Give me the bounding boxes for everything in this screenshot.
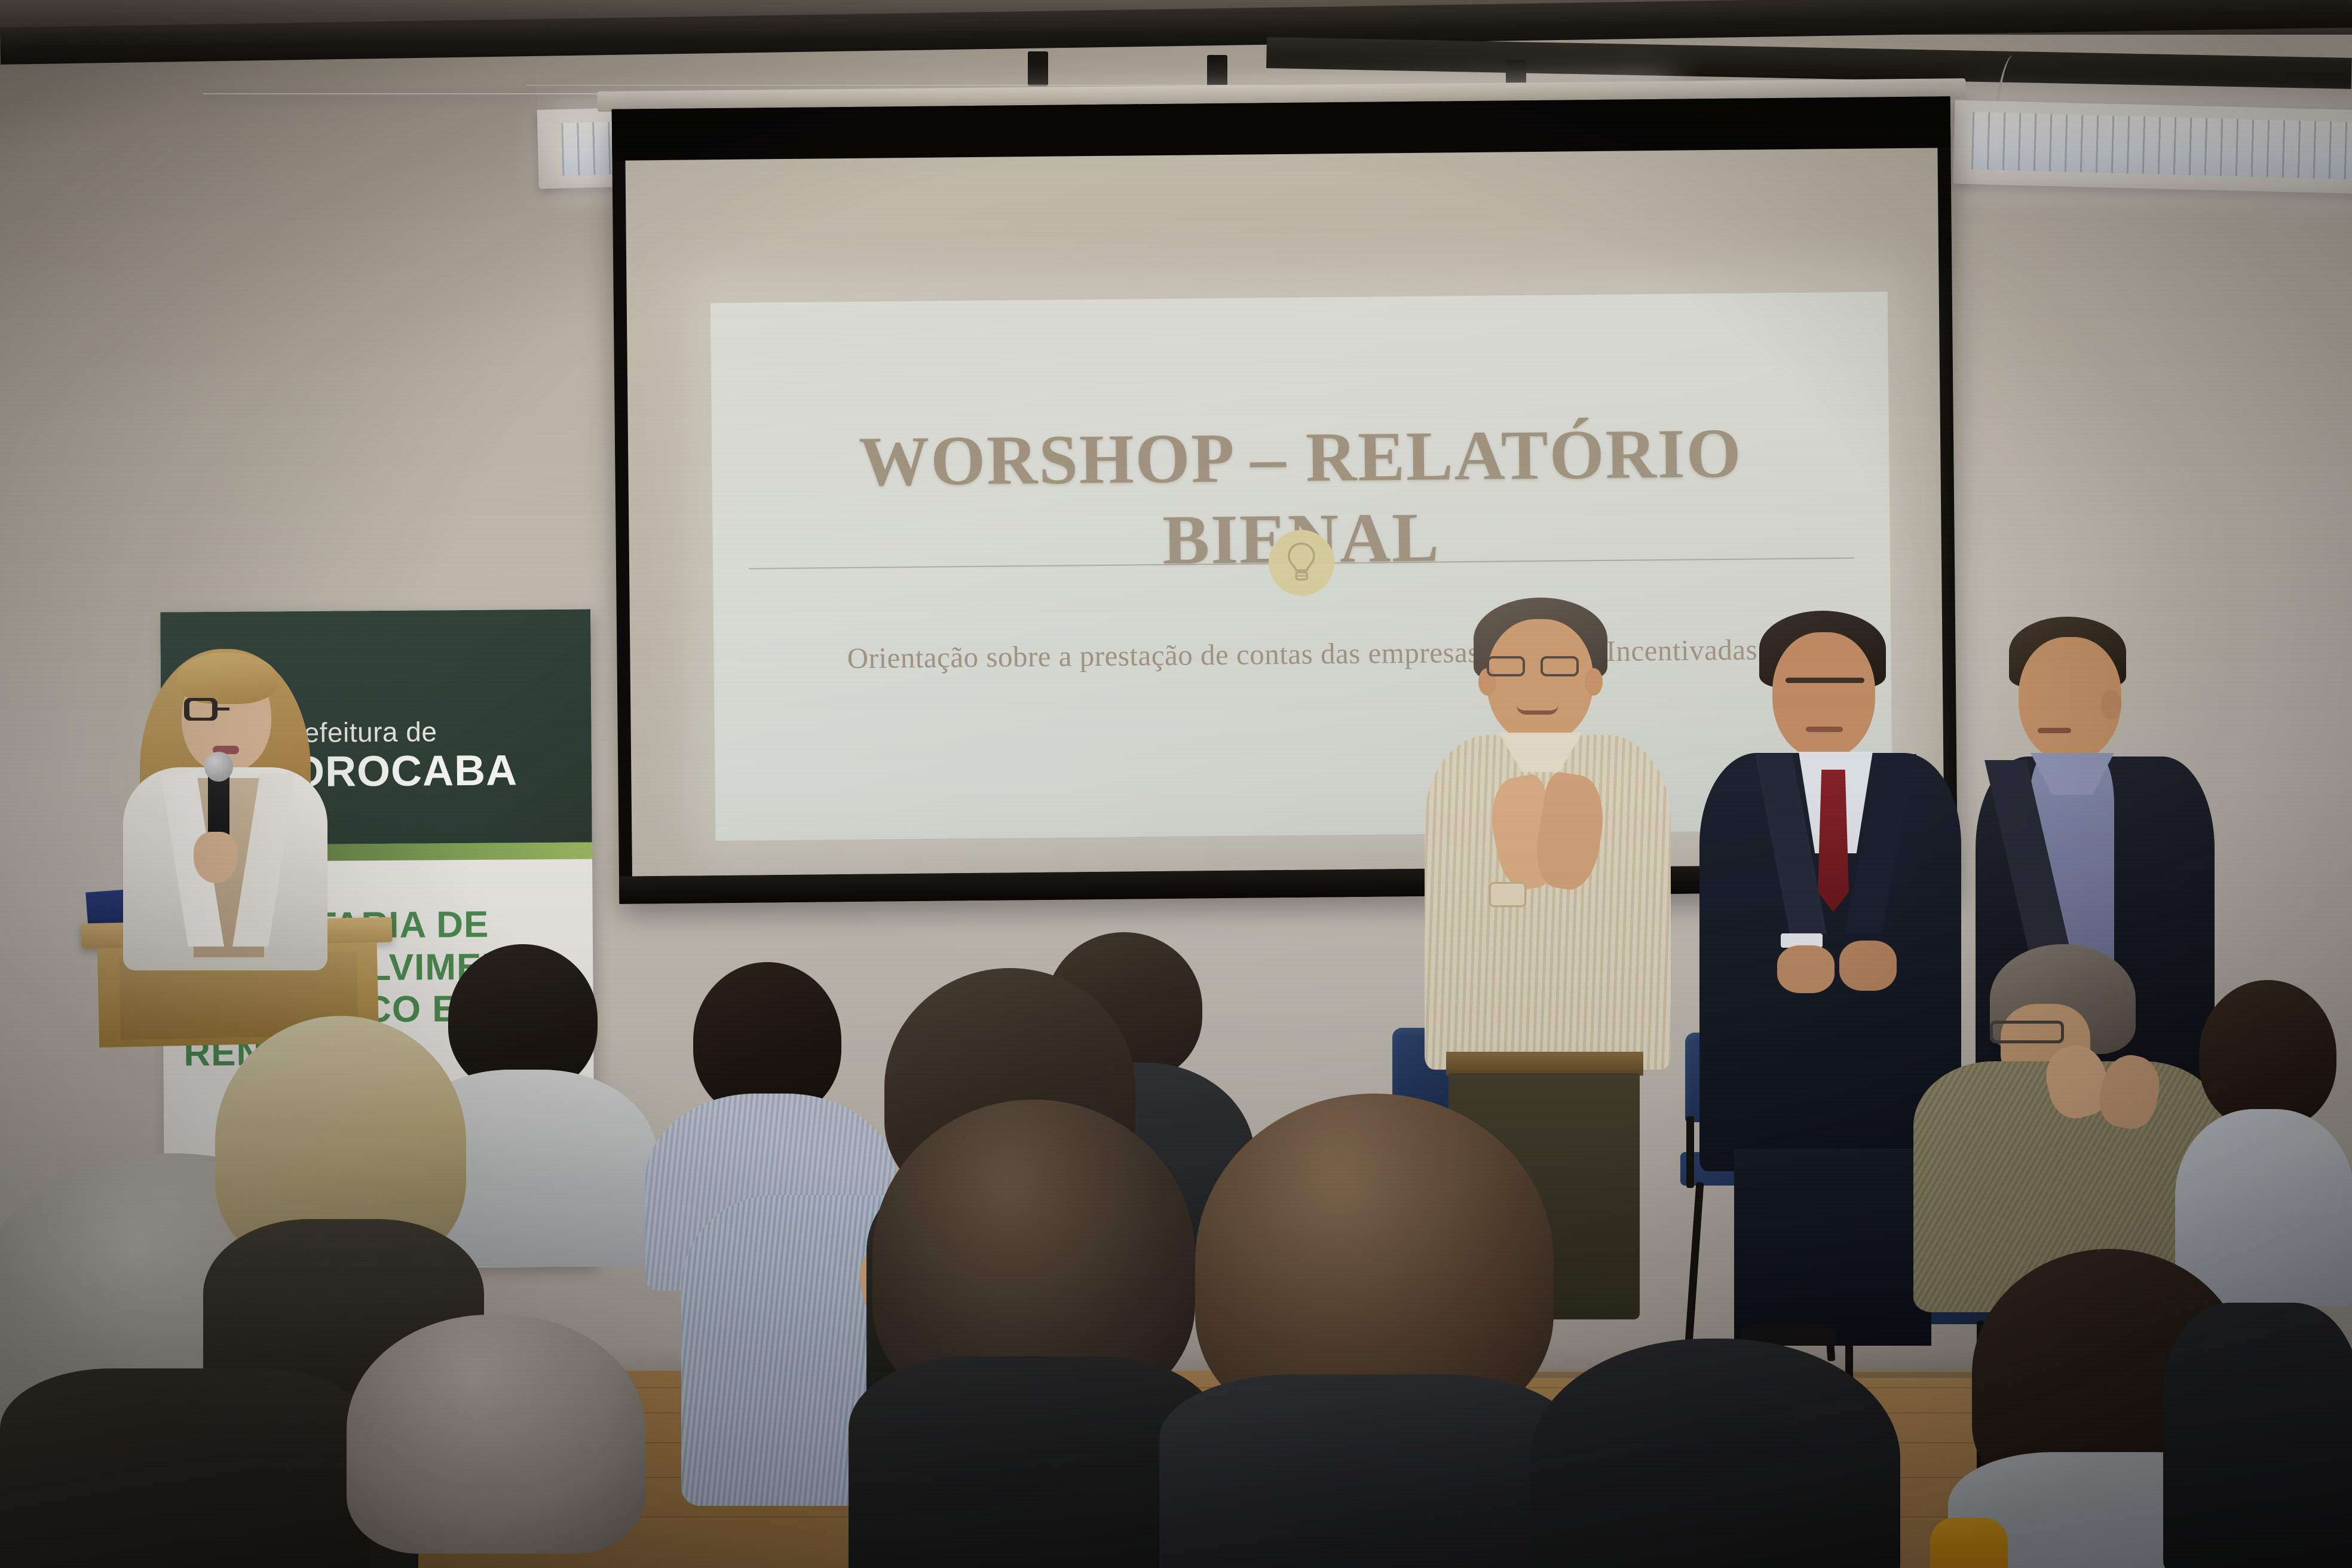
speaker-glasses <box>184 698 271 724</box>
foreground-audience-shoulder <box>0 1368 370 1568</box>
hand-right <box>1839 941 1897 991</box>
belt <box>1446 1052 1643 1076</box>
microphone-head <box>204 752 233 782</box>
clapping-guest-glasses <box>1486 656 1597 682</box>
conference-room-photo: WORSHOP – RELATÓRIO BIENAL Orientação so… <box>0 0 2352 1568</box>
foreground-audience-head <box>335 1315 669 1568</box>
necktie <box>1818 770 1849 912</box>
foreground-audience-silhouette <box>2163 1303 2352 1568</box>
speaker-fringe <box>177 653 277 704</box>
suited-guest-head <box>1772 632 1875 759</box>
lightbulb-icon <box>1268 529 1334 596</box>
audience-member <box>2175 980 2352 1291</box>
foreground-audience-head <box>1530 1339 1900 1568</box>
smile <box>1517 705 1558 715</box>
yellow-object <box>1930 1518 2008 1568</box>
light-grill-right <box>1971 112 2352 180</box>
foreground-audience-head <box>215 1016 466 1350</box>
mouth <box>2038 728 2071 733</box>
speaker-hand <box>194 832 238 883</box>
speaker-at-podium <box>117 635 332 969</box>
ear <box>2101 690 2121 719</box>
wristwatch <box>1489 882 1526 907</box>
mouth <box>1806 727 1843 732</box>
seated-guest-glasses <box>1990 1021 2064 1043</box>
eyebrows <box>1786 678 1864 683</box>
beam-clip <box>1028 51 1048 86</box>
hand-left <box>1777 945 1835 993</box>
foreground-audience-head <box>1159 1094 1578 1568</box>
